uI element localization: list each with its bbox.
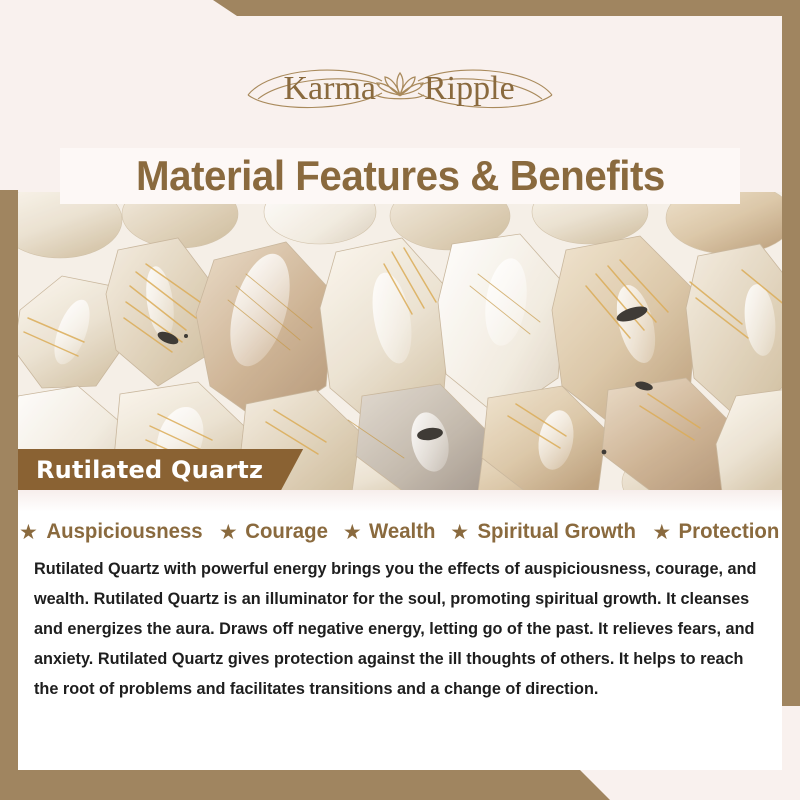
frame-left-strip bbox=[0, 190, 18, 770]
content-top-tint bbox=[18, 490, 782, 512]
rutilated-quartz-photo bbox=[0, 190, 800, 492]
stone-name-label: Rutilated Quartz bbox=[36, 456, 263, 484]
page-title: Material Features & Benefits bbox=[136, 152, 665, 200]
star-icon: ★ bbox=[19, 522, 38, 543]
description-paragraph: Rutilated Quartz with powerful energy br… bbox=[34, 554, 759, 704]
benefit-item-protection: ★ Protection bbox=[652, 520, 781, 544]
benefit-label: Spiritual Growth bbox=[477, 520, 635, 544]
frame-top-strip bbox=[0, 0, 800, 16]
photo-artwork bbox=[0, 190, 800, 492]
logo-word-left: Karma bbox=[283, 70, 376, 107]
content-panel: ★ Auspiciousness ★ Courage ★ Wealth ★ Sp… bbox=[18, 490, 782, 770]
logo-artwork: Karma Ripple bbox=[230, 55, 570, 119]
page-title-plate: Material Features & Benefits bbox=[60, 148, 740, 204]
star-icon: ★ bbox=[219, 522, 238, 543]
benefit-item-courage: ★ Courage bbox=[219, 520, 329, 544]
benefit-item-spiritual-growth: ★ Spiritual Growth bbox=[450, 520, 638, 544]
benefit-label: Wealth bbox=[369, 520, 435, 544]
benefit-item-auspiciousness: ★ Auspiciousness bbox=[19, 520, 205, 544]
header-band: Karma Ripple Material Features & Benefit… bbox=[0, 16, 800, 192]
infographic-page: Karma Ripple Material Features & Benefit… bbox=[0, 0, 800, 800]
star-icon: ★ bbox=[652, 522, 671, 543]
benefit-label: Protection bbox=[679, 520, 780, 544]
brand-logo[interactable]: Karma Ripple bbox=[0, 52, 800, 122]
star-icon: ★ bbox=[343, 522, 362, 543]
star-icon: ★ bbox=[450, 522, 469, 543]
benefit-label: Auspiciousness bbox=[46, 520, 202, 544]
benefit-label: Courage bbox=[245, 520, 328, 544]
stone-name-banner: Rutilated Quartz bbox=[18, 449, 303, 490]
benefits-list: ★ Auspiciousness ★ Courage ★ Wealth ★ Sp… bbox=[18, 520, 782, 544]
frame-right-strip bbox=[782, 16, 800, 706]
logo-word-right: Ripple bbox=[424, 70, 515, 107]
benefit-item-wealth: ★ Wealth bbox=[343, 520, 436, 544]
